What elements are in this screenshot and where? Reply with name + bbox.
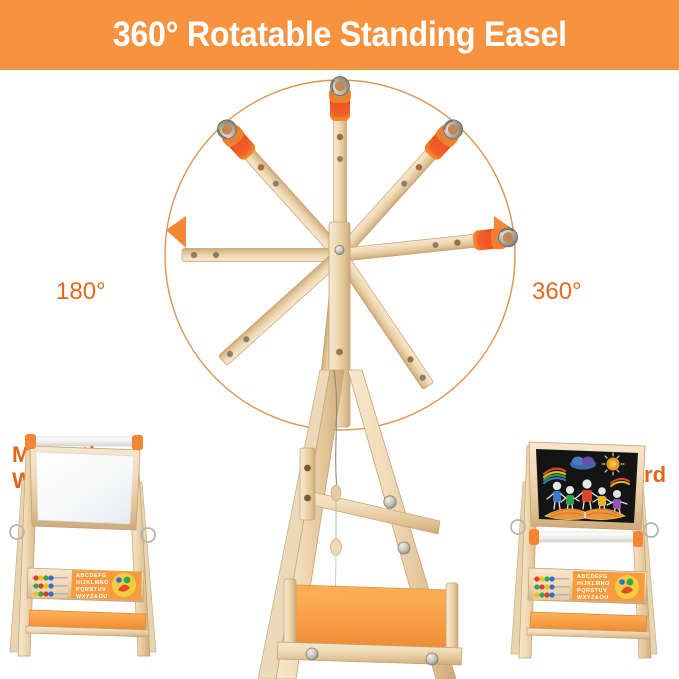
rotating-arm-plain [182,249,340,262]
rotating-arm [212,115,348,262]
whiteboard-panel [30,446,140,530]
alphabet-row: WXYZ&OU [76,594,108,600]
alphabet-abacus-panel: ABCDEFG HIJKLMNO PQRSTUV WXYZ&OU [528,568,647,604]
bottom-tray [26,610,149,637]
product-whiteboard-easel: ABCDEFG HIJKLMNO PQRSTUV WXYZ&OU [0,420,180,679]
hero-illustration: 180° 360° Magnetic Whiteboard Chalkboard [0,70,679,679]
alphabet-row: PQRSTUV [577,588,607,594]
paper-roll [529,529,643,547]
alphabet-row: HIJKLMNO [577,581,610,587]
bottom-tray [527,612,650,639]
page-title: 360° Rotatable Standing Easel [112,15,566,55]
alphabet-abacus-panel: ABCDEFG HIJKLMNO PQRSTUV WXYZ&OU [27,568,144,602]
alphabet-row: WXYZ&OU [577,595,609,601]
easel-stand-frame [258,370,462,679]
storage-tray [277,579,462,665]
pivot-screw [335,245,344,254]
product-marketing-image: 360° Rotatable Standing Easel [0,0,679,679]
header-banner: 360° Rotatable Standing Easel [0,0,679,70]
alphabet-row: ABCDEFG [76,573,107,579]
abacus-beads [533,576,569,597]
rotation-label-180: 180° [56,278,106,306]
product-chalkboard-easel: ABCDEFG HIJKLMNO PQRSTUV WXYZ&OU [499,420,679,679]
abacus-beads [32,575,68,596]
alphabet-row: ABCDEFG [577,574,608,580]
rotation-label-360: 360° [532,278,582,306]
chalkboard-panel [529,442,645,530]
alphabet-row: HIJKLMNO [76,580,109,586]
alphabet-row: PQRSTUV [76,587,106,593]
